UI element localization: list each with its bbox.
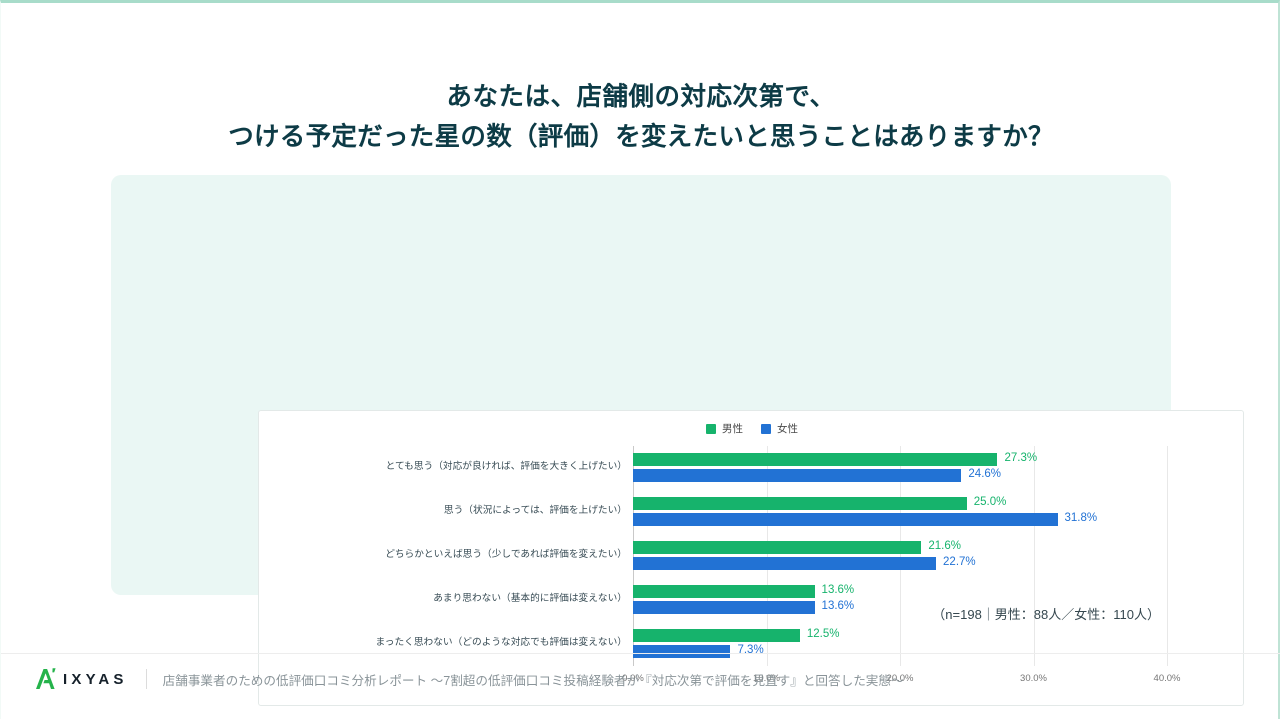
bar-value-label-female: 7.3% bbox=[737, 644, 763, 657]
bar-male[interactable] bbox=[633, 497, 967, 510]
category-label: まったく思わない（どのような対応でも評価は変えない） bbox=[287, 637, 627, 649]
bar-value-label-male: 12.5% bbox=[807, 628, 840, 641]
page-title-line1: あなたは、店舗側の対応次第で、 bbox=[1, 77, 1280, 117]
page-title: あなたは、店舗側の対応次第で、 つける予定だった星の数（評価）を変えたいと思うこ… bbox=[1, 77, 1280, 157]
bar-group: 12.5%7.3% bbox=[633, 628, 1167, 668]
logo-wordmark: IXYAS bbox=[63, 671, 128, 688]
category-label: とても思う（対応が良ければ、評価を大きく上げたい） bbox=[287, 461, 627, 473]
bar-male[interactable] bbox=[633, 585, 815, 598]
bar-value-label-female: 13.6% bbox=[822, 600, 855, 613]
bar-female[interactable] bbox=[633, 645, 730, 658]
footer: IXYAS 店舗事業者のための低評価口コミ分析レポート ～7割超の低評価口コミ投… bbox=[33, 666, 904, 692]
category-axis: とても思う（対応が良ければ、評価を大きく上げたい）思う（状況によっては、評価を上… bbox=[283, 446, 627, 671]
bar-value-label-male: 21.6% bbox=[928, 540, 961, 553]
footer-divider bbox=[1, 653, 1280, 654]
footer-report-title: 店舗事業者のための低評価口コミ分析レポート ～7割超の低評価口コミ投稿経験者が『… bbox=[163, 670, 904, 689]
sample-size-note: （n=198｜男性：88人／女性：110人） bbox=[932, 604, 1160, 623]
bar-group: 21.6%22.7% bbox=[633, 540, 1167, 580]
chart-panel: 男性 女性 とても思う（対応が良ければ、評価を大きく上げたい）思う（状況によって… bbox=[111, 175, 1171, 595]
legend-label-female: 女性 bbox=[777, 421, 798, 436]
legend-swatch-female bbox=[761, 424, 771, 434]
chart-card: 男性 女性 とても思う（対応が良ければ、評価を大きく上げたい）思う（状況によって… bbox=[258, 410, 1244, 706]
bar-female[interactable] bbox=[633, 513, 1058, 526]
footer-separator bbox=[146, 669, 147, 689]
bar-female[interactable] bbox=[633, 601, 815, 614]
category-label: どちらかといえば思う（少しであれば評価を変えたい） bbox=[287, 549, 627, 561]
legend-item-male[interactable]: 男性 bbox=[706, 421, 743, 436]
bar-female[interactable] bbox=[633, 557, 936, 570]
bar-value-label-male: 27.3% bbox=[1004, 452, 1037, 465]
bar-male[interactable] bbox=[633, 541, 921, 554]
category-label: あまり思わない（基本的に評価は変えない） bbox=[287, 593, 627, 605]
bar-value-label-male: 13.6% bbox=[822, 584, 855, 597]
legend-label-male: 男性 bbox=[722, 421, 743, 436]
bar-female[interactable] bbox=[633, 469, 961, 482]
plot-area: 27.3%24.6%25.0%31.8%21.6%22.7%13.6%13.6%… bbox=[633, 446, 1167, 671]
x-tick-label: 40.0% bbox=[1154, 673, 1181, 684]
bar-male[interactable] bbox=[633, 453, 997, 466]
ixyas-a-mark-icon bbox=[33, 666, 59, 692]
bar-male[interactable] bbox=[633, 629, 800, 642]
gridline-40.0% bbox=[1167, 446, 1168, 666]
bar-value-label-male: 25.0% bbox=[974, 496, 1007, 509]
bar-value-label-female: 31.8% bbox=[1065, 512, 1098, 525]
bar-group: 25.0%31.8% bbox=[633, 496, 1167, 536]
legend-swatch-male bbox=[706, 424, 716, 434]
bar-value-label-female: 24.6% bbox=[968, 468, 1001, 481]
bar-group: 27.3%24.6% bbox=[633, 452, 1167, 492]
chart-legend: 男性 女性 bbox=[259, 421, 1245, 436]
category-label: 思う（状況によっては、評価を上げたい） bbox=[287, 505, 627, 517]
slide-canvas: あなたは、店舗側の対応次第で、 つける予定だった星の数（評価）を変えたいと思うこ… bbox=[0, 0, 1280, 719]
bar-value-label-female: 22.7% bbox=[943, 556, 976, 569]
legend-item-female[interactable]: 女性 bbox=[761, 421, 798, 436]
x-tick-label: 30.0% bbox=[1020, 673, 1047, 684]
page-title-line2: つける予定だった星の数（評価）を変えたいと思うことはありますか？ bbox=[1, 117, 1280, 157]
